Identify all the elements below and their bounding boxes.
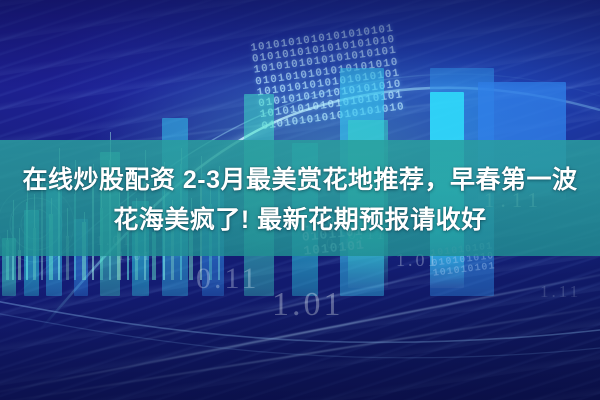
banner-image: 1010101010101010101 0101010101010101010 … [0, 0, 600, 400]
vignette-overlay [0, 0, 600, 400]
